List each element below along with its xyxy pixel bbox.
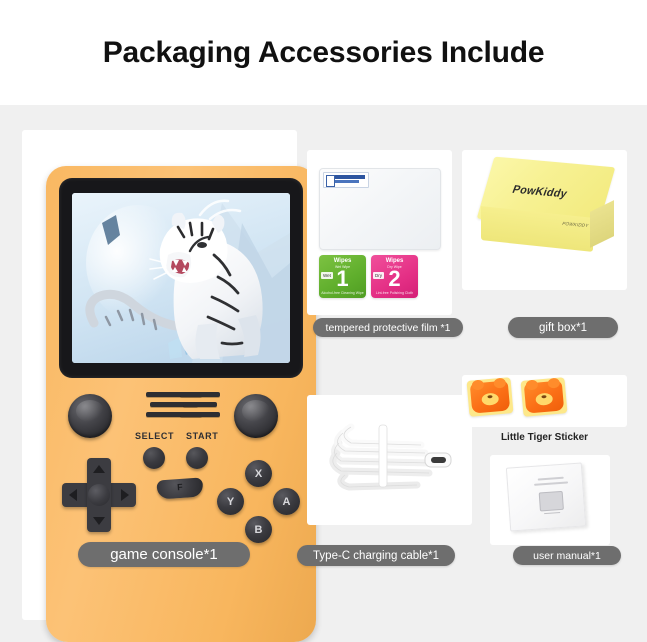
start-button[interactable] [186,447,208,469]
wipe-1-footnote: Alcohol-free Cleaning Wipe [319,291,366,295]
product-panel-user-manual [490,455,610,545]
product-panel-tiger-sticker [462,375,627,427]
wipe-2-number: 2 [371,266,418,292]
console-screen-bezel [59,178,303,378]
wipe-1-number: 1 [319,266,366,292]
label-gift-box: gift box*1 [508,317,618,338]
tempered-film-sheet [319,168,441,250]
tiger-sticker-label: Little Tiger Sticker [462,432,627,443]
game-console-device: SELECT START F X Y A B [46,166,316,642]
product-stage: SELECT START F X Y A B [0,105,647,597]
button-b[interactable]: B [245,516,272,543]
select-button[interactable] [143,447,165,469]
dpad-up-icon[interactable] [93,465,105,473]
wipe-1-tag: Wet [321,272,333,279]
wipe-2-tag: Dry [373,272,384,279]
label-charging-cable: Type-C charging cable*1 [297,545,455,566]
label-game-console: game console*1 [78,542,250,567]
wipe-1-name: Wipes [319,258,366,264]
product-panel-tempered-film: Wipes Wet Wipe 1 Wet Alcohol-free Cleani… [307,150,452,315]
tiger-sticker-1-icon [467,377,514,417]
button-y[interactable]: Y [217,488,244,515]
dpad-hub [88,484,110,506]
white-tiger-artwork-icon [72,193,290,363]
dpad-right-icon[interactable] [121,489,129,501]
start-bars-icon [180,392,220,422]
wipe-2-name: Wipes [371,258,418,264]
film-corner-sticker-icon [323,172,369,188]
console-screen [72,193,290,363]
label-user-manual: user manual*1 [513,546,621,565]
wipe-sachet-2: Wipes Dry Wipe 2 Dry Lint-free Polishing… [371,255,418,298]
select-label: SELECT [135,431,174,441]
gift-box-product: PowKiddy POWKIDDY [478,162,618,268]
dpad-left-icon[interactable] [69,489,77,501]
usb-cable-icon [321,413,457,505]
page-header: Packaging Accessories Include [0,0,647,105]
function-button-label: F [157,480,204,493]
wipe-2-footnote: Lint-free Polishing Cloth [371,291,418,295]
function-button[interactable]: F [156,477,203,499]
dpad[interactable] [62,458,136,532]
left-analog-stick[interactable] [68,394,112,438]
page-title: Packaging Accessories Include [103,36,545,70]
label-tempered-film: tempered protective film *1 [313,318,463,337]
wipe-sachet-1: Wipes Wet Wipe 1 Wet Alcohol-free Cleani… [319,255,366,298]
button-x[interactable]: X [245,460,272,487]
button-a[interactable]: A [273,488,300,515]
manual-illustration-icon [539,491,564,512]
user-manual-booklet [506,462,586,531]
type-c-cable-product [321,413,457,505]
right-analog-stick[interactable] [234,394,278,438]
dpad-down-icon[interactable] [93,517,105,525]
product-panel-gift-box: PowKiddy POWKIDDY [462,150,627,290]
start-label: START [186,431,218,441]
product-panel-charging-cable [307,395,472,525]
tiger-sticker-2-icon [521,377,568,417]
